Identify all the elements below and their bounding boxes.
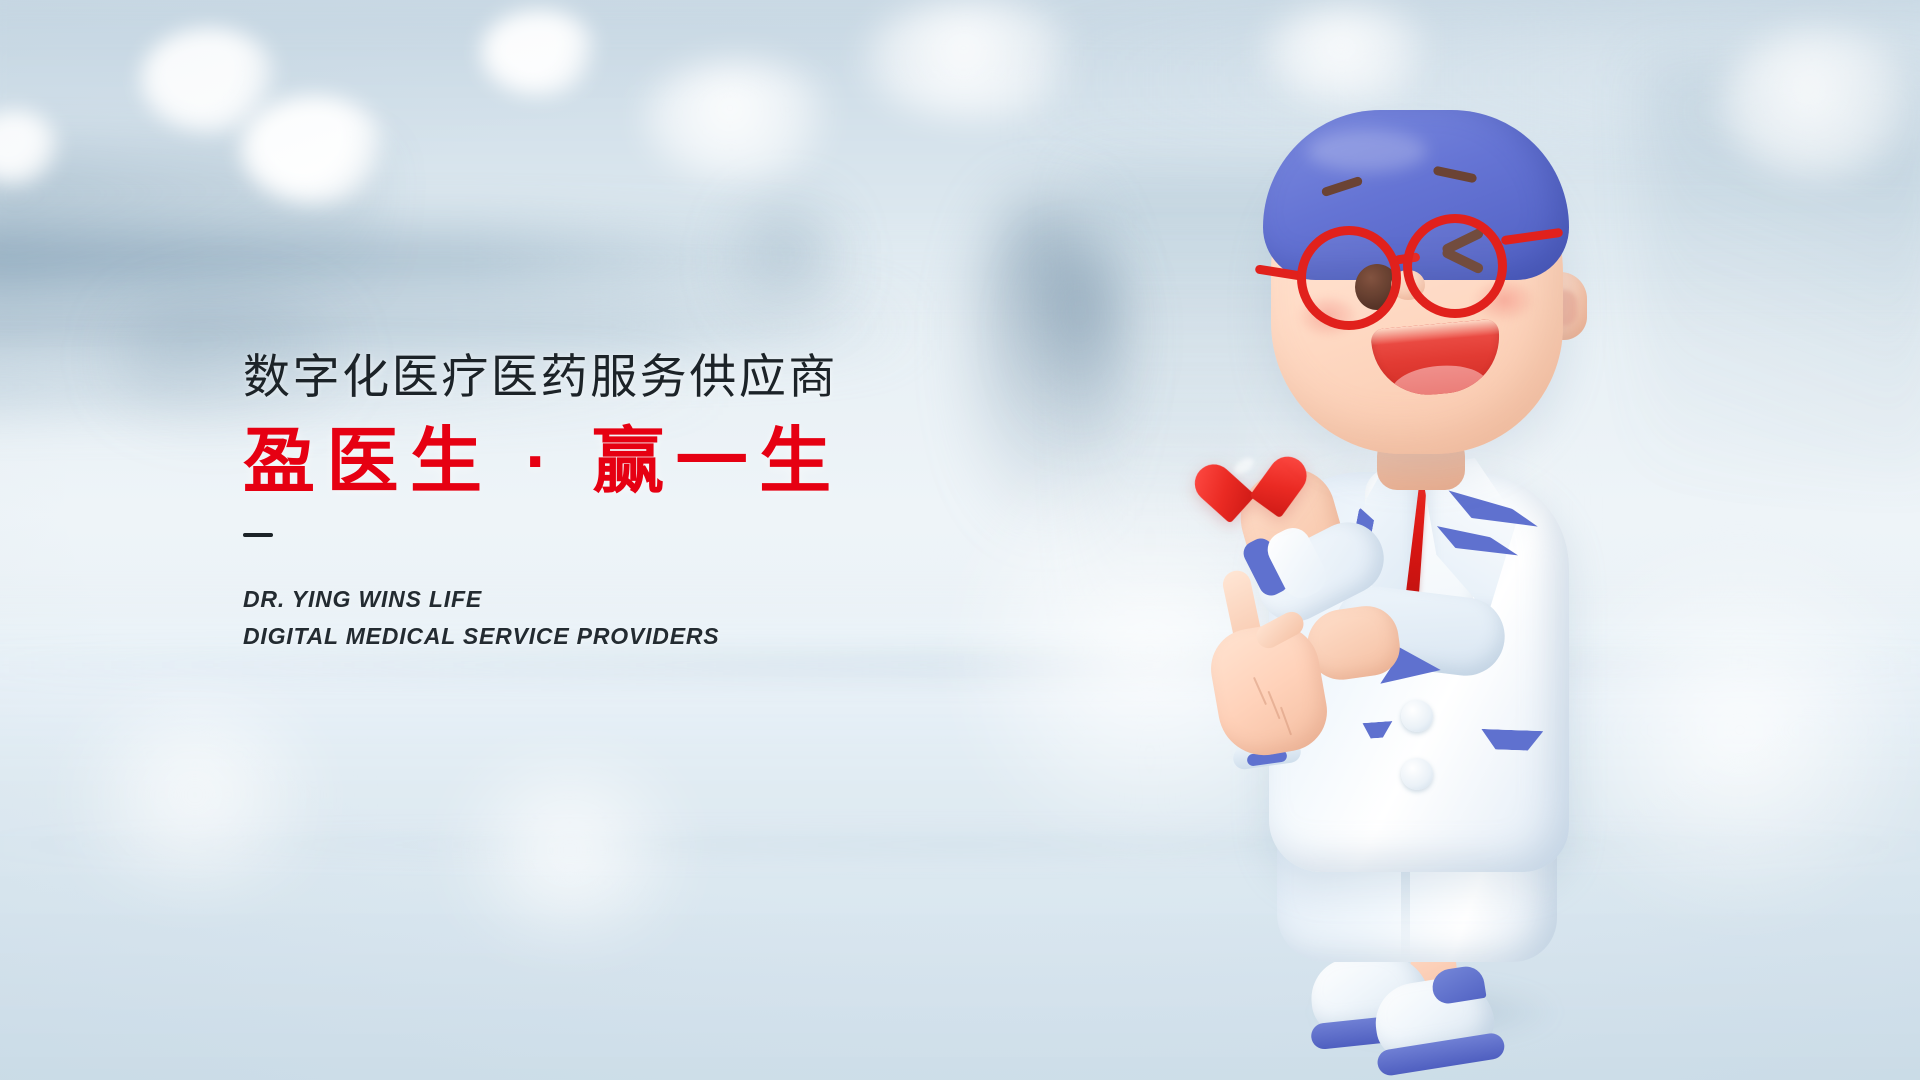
subtitle-group: DR. YING WINS LIFE DIGITAL MEDICAL SERVI…: [243, 581, 1063, 656]
glasses-lens-left: [1297, 226, 1401, 330]
glasses-lens-right: [1403, 214, 1507, 318]
mascot-coat-button: [1401, 758, 1433, 790]
divider-rule: [243, 533, 273, 537]
subtitle-line-2: DIGITAL MEDICAL SERVICE PROVIDERS: [243, 618, 1063, 655]
mascot-coat-button: [1401, 700, 1433, 732]
page-title: 数字化医疗医药服务供应商: [243, 352, 1063, 401]
doctor-mascot: [1215, 52, 1635, 1052]
mascot-hair-highlight: [1307, 130, 1427, 172]
hero-banner: 数字化医疗医药服务供应商 盈医生 · 赢一生 DR. YING WINS LIF…: [0, 0, 1920, 1080]
glasses-temple-right: [1501, 228, 1564, 246]
slogan-headline: 盈医生 · 赢一生: [243, 423, 1063, 502]
hero-copy-block: 数字化医疗医药服务供应商 盈医生 · 赢一生 DR. YING WINS LIF…: [243, 352, 1063, 655]
heart-icon: [1218, 447, 1294, 518]
subtitle-line-1: DR. YING WINS LIFE: [243, 581, 1063, 618]
glasses-icon: [1269, 206, 1575, 338]
